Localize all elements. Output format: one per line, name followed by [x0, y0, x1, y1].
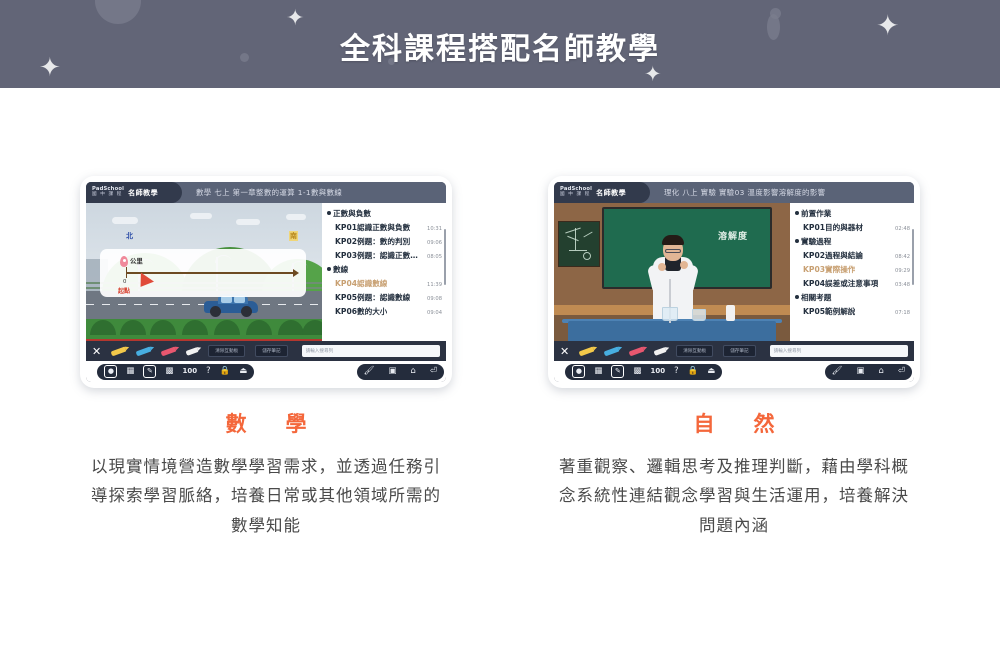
subject-title-science: 自 然 [548, 408, 920, 438]
teacher-hand [658, 263, 666, 271]
upload-icon[interactable]: ⏏ [707, 367, 715, 376]
chalk-mark [583, 252, 591, 260]
playlist-group-label: 數線 [333, 264, 348, 275]
page-header-banner: ✦ ✦ ✦ ✦ 全科課程搭配名師教學 [0, 0, 1000, 88]
playlist-item-label: KP04誤差或注意事項 [803, 278, 878, 289]
clear-board-button[interactable]: 清除互動板 [676, 345, 713, 357]
save-note-button[interactable]: 儲存筆記 [723, 345, 755, 357]
help-icon[interactable]: ? [674, 367, 679, 376]
playlist-item-duration: 10:31 [427, 226, 442, 232]
numberline-tick [126, 267, 127, 278]
red-pen-icon[interactable] [161, 346, 177, 356]
scene-bottle [726, 305, 735, 321]
scene-desk [568, 321, 776, 341]
scene-chalkboard [558, 221, 600, 267]
main-content: PadSchool 國 中 課 程 名師教學 數學 七上 第一章整數的運算 1-… [0, 88, 1000, 668]
lesson-playlist-science[interactable]: 前置作業 KP01目的與器材 02:48 實驗過程 [790, 203, 914, 341]
car-wheel [210, 306, 221, 317]
playlist-item-label: KP01認識正數與負數 [335, 222, 410, 233]
return-icon[interactable]: ⏎ [430, 367, 437, 376]
qr-icon[interactable]: ▩ [165, 367, 173, 376]
zoom-level-value[interactable]: 100 [182, 368, 197, 375]
playlist-item-duration: 02:48 [895, 226, 910, 232]
scene-beaker [662, 307, 678, 321]
clear-board-button[interactable]: 清除互動板 [208, 345, 245, 357]
play-icon[interactable]: ● [104, 365, 117, 378]
subject-card-science: PadSchool 國 中 課 程 名師教學 理化 八上 實驗 實驗03 溫度影… [548, 176, 920, 540]
search-input[interactable]: 請輸入搜尋列 [302, 345, 440, 357]
blue-pen-icon[interactable] [604, 346, 620, 356]
player-navbar: ❮ ● ▦ ✎ ▩ 100 ? 🔒 ⏏ [554, 361, 914, 382]
lesson-title: 數學 七上 第一章整數的運算 1-1數與數線 [196, 187, 342, 198]
red-pen-icon[interactable] [629, 346, 645, 356]
logo-brand: PadSchool 國 中 課 程 [560, 187, 592, 197]
location-pin-icon [120, 256, 128, 267]
grid-icon[interactable]: ▦ [126, 367, 134, 376]
scene-cloud [286, 214, 306, 220]
close-icon[interactable]: ✕ [92, 346, 101, 357]
page-title: 全科課程搭配名師教學 [0, 24, 1000, 68]
chalk-mark [567, 236, 579, 241]
lock-icon[interactable]: 🔒 [220, 367, 231, 376]
playlist-item[interactable]: KP03例題：認識正數與... 08:05 [322, 248, 446, 262]
playlist-group: 前置作業 [790, 206, 914, 220]
playlist-item[interactable]: KP02過程與結論 08:42 [790, 248, 914, 262]
playlist-item[interactable]: KP05範例解說 07:18 [790, 304, 914, 318]
video-viewport-math[interactable]: 北 南 公里 0 起點 [86, 203, 322, 341]
playlist-item-label: KP05例題：認識數線 [335, 292, 410, 303]
playlist-item-label: KP03實際操作 [803, 264, 855, 275]
playlist-item[interactable]: KP06數的大小 09:04 [322, 304, 446, 318]
scene-cloud [112, 217, 138, 224]
qr-icon[interactable]: ▩ [633, 367, 641, 376]
eraser-icon[interactable] [186, 347, 199, 356]
lesson-title: 理化 八上 實驗 實驗03 溫度影響溶解度的影響 [664, 187, 825, 198]
return-icon[interactable]: ⏎ [898, 367, 905, 376]
player-titlebar: PadSchool 國 中 課 程 名師教學 數學 七上 第一章整數的運算 1-… [86, 182, 446, 203]
playlist-item-label: KP02例題：數的判別 [335, 236, 410, 247]
playlist-group-label: 相關考題 [801, 292, 831, 303]
playlist-group: 正數與負數 [322, 206, 446, 220]
playlist-item-duration: 09:06 [427, 240, 442, 246]
chalk-mark [575, 228, 576, 250]
numberline-overlay: 公里 0 起點 [100, 249, 306, 297]
bullet-icon [795, 211, 799, 215]
car-window [234, 296, 245, 303]
scene-baseline [86, 339, 322, 341]
tablet-screen: PadSchool 國 中 課 程 名師教學 理化 八上 實驗 實驗03 溫度影… [554, 182, 914, 382]
playlist-item-duration: 09:29 [895, 268, 910, 274]
logo-brand-sub: 國 中 課 程 [560, 193, 592, 198]
bullet-icon [327, 211, 331, 215]
playlist-item-label: KP04認識數線 [335, 278, 387, 289]
brush-icon[interactable]: 🖌 [832, 367, 843, 376]
scene-beaker [692, 309, 706, 321]
car-wheel [241, 306, 252, 317]
navbar-right-group: 🖌 ▣ ⌂ ⏎ [825, 364, 912, 380]
teacher-glasses [665, 249, 681, 253]
playlist-group: 實驗過程 [790, 234, 914, 248]
playlist-item-duration: 08:05 [427, 254, 442, 260]
back-chevron-icon[interactable]: ❮ [556, 366, 564, 377]
scene-car [204, 295, 258, 317]
subject-cards-row: PadSchool 國 中 課 程 名師教學 數學 七上 第一章整數的運算 1-… [0, 88, 1000, 540]
playlist-item[interactable]: KP05例題：認識數線 09:08 [322, 290, 446, 304]
back-chevron-icon[interactable]: ❮ [88, 366, 96, 377]
scene-cloud [190, 213, 212, 219]
numberline-zero-label: 0 [123, 279, 126, 285]
playlist-item-label: KP01目的與器材 [803, 222, 863, 233]
scene-cloud [236, 219, 260, 225]
subject-description-science: 著重觀察、邏輯思考及推理判斷，藉由學科概念系統性連結觀念學習與生活運用，培養解決… [548, 452, 920, 540]
player-body: 溶解度 [554, 203, 914, 341]
subject-description-math: 以現實情境營造數學學習需求，並透過任務引導探索學習脈絡，培養日常或其他領域所需的… [80, 452, 452, 540]
playlist-scrollbar[interactable] [444, 229, 446, 285]
playlist-item[interactable]: KP04誤差或注意事項 03:48 [790, 276, 914, 290]
playlist-item-label: KP02過程與結論 [803, 250, 863, 261]
help-icon[interactable]: ? [206, 367, 211, 376]
navbar-left-group: ● ▦ ✎ ▩ 100 ? 🔒 ⏏ [97, 364, 254, 380]
save-note-button[interactable]: 儲存筆記 [255, 345, 287, 357]
playlist-item-active[interactable]: KP04認識數線 11:39 [322, 276, 446, 290]
bullet-icon [795, 295, 799, 299]
playlist-group-label: 前置作業 [801, 208, 831, 219]
grid-icon[interactable]: ▦ [594, 367, 602, 376]
camera-icon[interactable]: ▣ [388, 367, 396, 376]
annotation-toolbar: ✕ 清除互動板 儲存筆記 請輸入搜尋列 [554, 341, 914, 361]
playlist-group-label: 正數與負數 [333, 208, 371, 219]
playlist-group: 相關考題 [790, 290, 914, 304]
playlist-item-active[interactable]: KP03實際操作 09:29 [790, 262, 914, 276]
yellow-pen-icon[interactable] [111, 346, 127, 356]
playlist-item-label: KP03例題：認識正數與... [335, 250, 423, 261]
note-icon[interactable]: ✎ [611, 365, 624, 378]
playlist-item-duration: 03:48 [895, 282, 910, 288]
player-navbar: ❮ ● ▦ ✎ ▩ 100 ? 🔒 ⏏ [86, 361, 446, 382]
annotation-toolbar: ✕ 清除互動板 儲存筆記 請輸入搜尋列 [86, 341, 446, 361]
page-root: ✦ ✦ ✦ ✦ 全科課程搭配名師教學 PadSchool 國 中 課 程 [0, 0, 1000, 668]
tablet-screen: PadSchool 國 中 課 程 名師教學 數學 七上 第一章整數的運算 1-… [86, 182, 446, 382]
player-titlebar: PadSchool 國 中 課 程 名師教學 理化 八上 實驗 實驗03 溫度影… [554, 182, 914, 203]
home-icon[interactable]: ⌂ [410, 367, 415, 376]
numberline-start-label: 起點 [118, 286, 130, 295]
playlist-item-label: KP06數的大小 [335, 306, 387, 317]
playlist-item-duration: 11:39 [427, 282, 442, 288]
numberline-unit-label: 公里 [130, 256, 143, 265]
app-logo: PadSchool 國 中 課 程 名師教學 [86, 182, 182, 203]
lesson-playlist-math[interactable]: 正數與負數 KP01認識正數與負數 10:31 KP02例題：數的判別 09:0… [322, 203, 446, 341]
teacher-hair [662, 235, 684, 245]
close-icon[interactable]: ✕ [560, 346, 569, 357]
playlist-item-label: KP05範例解說 [803, 306, 855, 317]
player-body: 北 南 公里 0 起點 [86, 203, 446, 341]
playlist-scrollbar[interactable] [912, 229, 914, 285]
playlist-group: 數線 [322, 262, 446, 276]
navbar-right-group: 🖌 ▣ ⌂ ⏎ [357, 364, 444, 380]
zoom-level-value[interactable]: 100 [650, 368, 665, 375]
tablet-device-math: PadSchool 國 中 課 程 名師教學 數學 七上 第一章整數的運算 1-… [80, 176, 452, 388]
logo-brand-sub: 國 中 課 程 [92, 193, 124, 198]
playlist-item[interactable]: KP01認識正數與負數 10:31 [322, 220, 446, 234]
playlist-group-label: 實驗過程 [801, 236, 831, 247]
play-icon[interactable]: ● [572, 365, 585, 378]
yellow-pen-icon[interactable] [579, 346, 595, 356]
board-text: 溶解度 [718, 229, 748, 242]
playlist-item-duration: 08:42 [895, 254, 910, 260]
search-input[interactable]: 請輸入搜尋列 [770, 345, 908, 357]
subject-title-math: 數 學 [80, 408, 452, 438]
logo-tagline: 名師教學 [596, 188, 626, 198]
playlist-item-duration: 07:18 [895, 310, 910, 316]
logo-brand: PadSchool 國 中 課 程 [92, 187, 124, 197]
playlist-item[interactable]: KP02例題：數的判別 09:06 [322, 234, 446, 248]
playlist-item-duration: 09:04 [427, 310, 442, 316]
playlist-item-duration: 09:08 [427, 296, 442, 302]
app-logo: PadSchool 國 中 課 程 名師教學 [554, 182, 650, 203]
scene-marker-south: 南 [289, 231, 298, 241]
scene-marker-north: 北 [126, 231, 133, 241]
teacher-hand [680, 261, 688, 269]
eraser-icon[interactable] [654, 347, 667, 356]
video-viewport-science[interactable]: 溶解度 [554, 203, 790, 341]
chalk-mark [569, 250, 587, 251]
upload-icon[interactable]: ⏏ [239, 367, 247, 376]
blue-pen-icon[interactable] [136, 346, 152, 356]
camera-icon[interactable]: ▣ [856, 367, 864, 376]
logo-tagline: 名師教學 [128, 188, 158, 198]
navbar-left-group: ● ▦ ✎ ▩ 100 ? 🔒 ⏏ [565, 364, 722, 380]
car-window [221, 296, 232, 303]
chalk-mark [565, 228, 581, 234]
note-icon[interactable]: ✎ [143, 365, 156, 378]
bullet-icon [327, 267, 331, 271]
red-pointer-arrow-icon [134, 272, 154, 291]
lock-icon[interactable]: 🔒 [688, 367, 699, 376]
home-icon[interactable]: ⌂ [878, 367, 883, 376]
bullet-icon [795, 239, 799, 243]
playlist-item[interactable]: KP01目的與器材 02:48 [790, 220, 914, 234]
numberline-axis [126, 272, 294, 274]
brush-icon[interactable]: 🖌 [364, 367, 375, 376]
tablet-device-science: PadSchool 國 中 課 程 名師教學 理化 八上 實驗 實驗03 溫度影… [548, 176, 920, 388]
subject-card-math: PadSchool 國 中 課 程 名師教學 數學 七上 第一章整數的運算 1-… [80, 176, 452, 540]
chalk-mark [583, 232, 592, 238]
decor-blob [95, 0, 141, 24]
